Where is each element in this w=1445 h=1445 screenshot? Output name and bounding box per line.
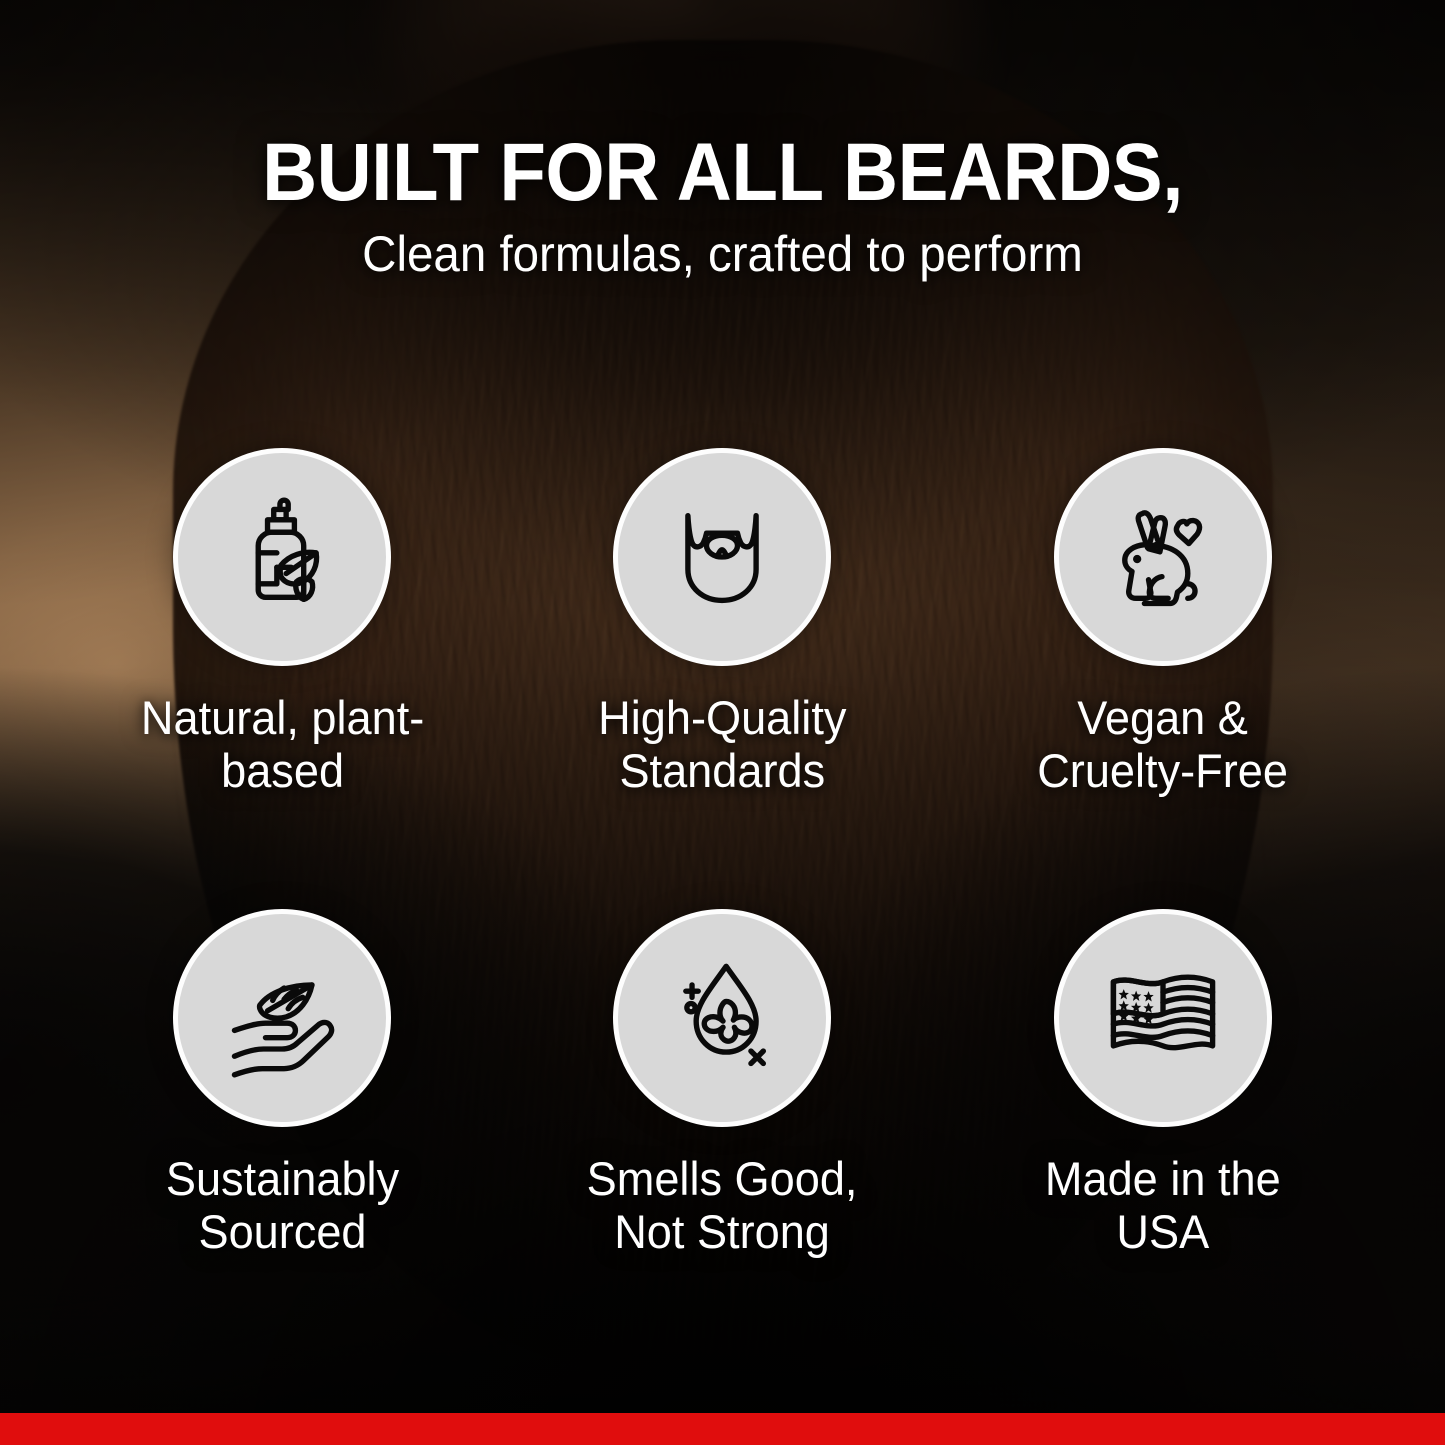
- feature-label-line2: Cruelty-Free: [1037, 744, 1288, 797]
- feature-icon-badge: [173, 909, 391, 1127]
- feature-item-high-quality-standards: High-Quality Standards: [502, 448, 942, 797]
- page-title: BUILT FOR ALL BEARDS,: [51, 132, 1395, 214]
- hand-holding-leaf-icon: [220, 956, 344, 1080]
- feature-icon-badge: [173, 448, 391, 666]
- feature-label: Sustainably Sourced: [166, 1153, 399, 1258]
- feature-icon-badge: [613, 448, 831, 666]
- beard-mustache-icon: [660, 495, 784, 619]
- feature-label: Made in the USA: [1045, 1153, 1281, 1258]
- page-subtitle: Clean formulas, crafted to perform: [36, 228, 1409, 281]
- dropper-bottle-leaf-icon: [220, 495, 344, 619]
- feature-label-line1: Smells Good,: [587, 1152, 858, 1205]
- bottom-accent-bar: [0, 1413, 1445, 1445]
- rabbit-heart-icon: [1101, 495, 1225, 619]
- feature-label: Natural, plant- based: [140, 692, 423, 797]
- feature-label-line2: Not Strong: [615, 1205, 831, 1258]
- feature-label-line1: Made in the: [1045, 1152, 1281, 1205]
- feature-label-line2: USA: [1116, 1205, 1209, 1258]
- headline-block: BUILT FOR ALL BEARDS, Clean formulas, cr…: [0, 132, 1445, 281]
- feature-item-natural-plant-based: Natural, plant- based: [62, 448, 502, 797]
- droplet-flower-icon: [660, 956, 784, 1080]
- feature-grid: Natural, plant- based High-Quality Stand…: [62, 448, 1383, 1259]
- feature-icon-badge: [1054, 448, 1272, 666]
- feature-label-line1: High-Quality: [598, 691, 846, 744]
- feature-icon-badge: [1054, 909, 1272, 1127]
- feature-label-line1: Vegan &: [1078, 691, 1249, 744]
- feature-item-smells-good-not-strong: Smells Good, Not Strong: [502, 909, 942, 1258]
- feature-label-line1: Sustainably: [166, 1152, 399, 1205]
- feature-label: Vegan & Cruelty-Free: [1037, 692, 1288, 797]
- feature-label-line2: Standards: [620, 744, 826, 797]
- feature-item-vegan-cruelty-free: Vegan & Cruelty-Free: [943, 448, 1383, 797]
- feature-item-made-in-usa: Made in the USA: [943, 909, 1383, 1258]
- feature-item-sustainably-sourced: Sustainably Sourced: [62, 909, 502, 1258]
- feature-label: Smells Good, Not Strong: [587, 1153, 858, 1258]
- usa-flag-icon: [1101, 956, 1225, 1080]
- feature-label: High-Quality Standards: [598, 692, 846, 797]
- feature-label-line2: Sourced: [198, 1205, 366, 1258]
- feature-icon-badge: [613, 909, 831, 1127]
- promotional-banner: BUILT FOR ALL BEARDS, Clean formulas, cr…: [0, 0, 1445, 1445]
- feature-label-line2: based: [221, 744, 344, 797]
- feature-label-line1: Natural, plant-: [140, 691, 423, 744]
